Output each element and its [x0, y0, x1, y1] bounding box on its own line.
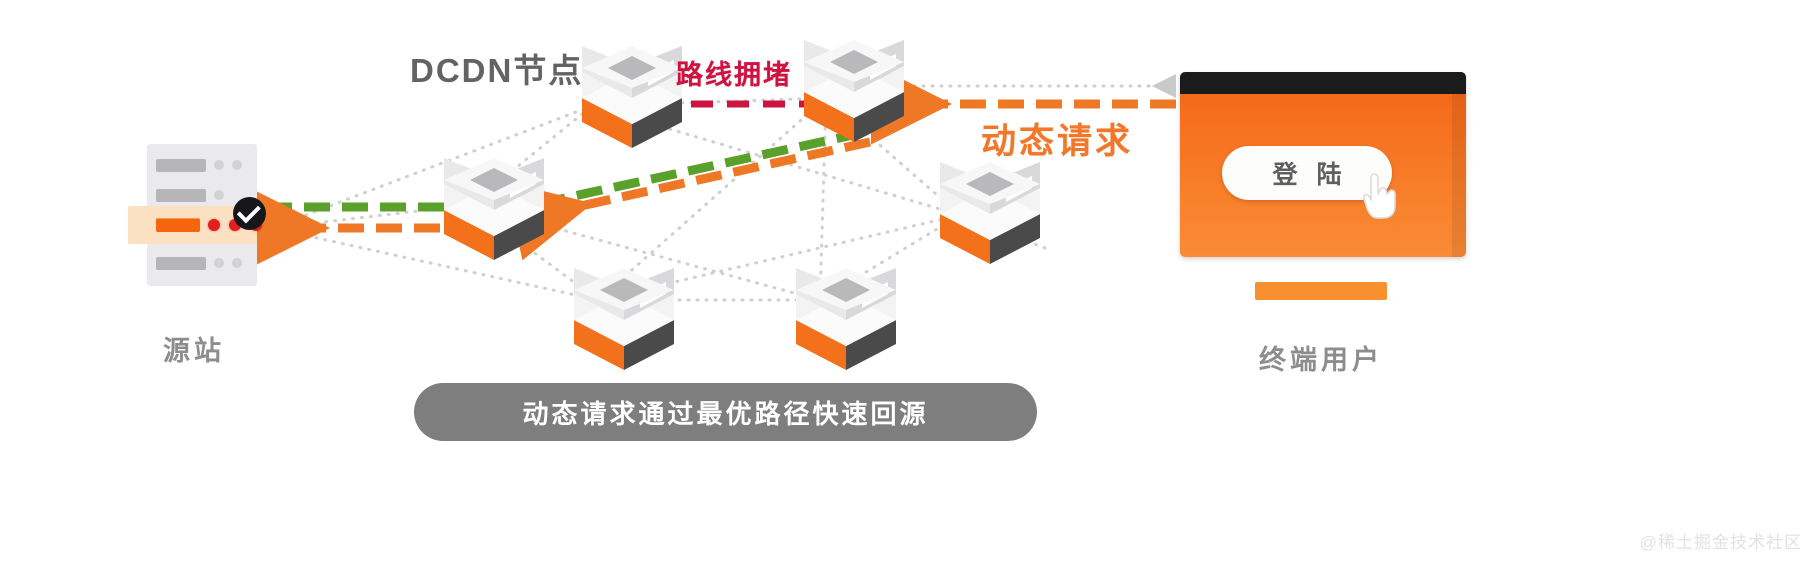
- node-mid-left: [444, 158, 544, 260]
- node-layer: [0, 0, 1816, 565]
- check-icon: [233, 197, 266, 230]
- label-origin: 源站: [163, 329, 225, 368]
- node-bottom-right: [796, 268, 896, 370]
- server-row-indicator: [214, 258, 224, 268]
- diagram-canvas: 登 陆 DCDN节点 路线拥堵 动态请求 源站 终端用户 动态请求通过最优路径快…: [0, 0, 1816, 565]
- node-top-right: [804, 40, 904, 142]
- connection-layer: [0, 0, 1816, 565]
- label-route-congestion: 路线拥堵: [676, 53, 792, 92]
- caption-banner: 动态请求通过最优路径快速回源: [414, 383, 1037, 441]
- server-row-bar: [156, 189, 206, 202]
- server-row-indicator: [214, 190, 224, 200]
- caption-text: 动态请求通过最优路径快速回源: [522, 394, 928, 431]
- end-user-browser: 登 陆: [1180, 72, 1466, 257]
- server-row-1: [156, 156, 248, 174]
- label-dcdn-nodes: DCDN节点: [410, 44, 583, 92]
- device-stand: [1255, 282, 1387, 300]
- server-active-indicator: [208, 219, 220, 231]
- server-row-bar: [156, 257, 206, 270]
- server-row-indicator: [214, 160, 224, 170]
- label-end-user: 终端用户: [1259, 338, 1383, 377]
- node-top-left: [582, 46, 682, 148]
- server-row-2: [156, 186, 248, 204]
- browser-titlebar: [1180, 72, 1466, 94]
- pointer-hand-icon: [1362, 172, 1404, 220]
- server-row-bar: [156, 159, 206, 172]
- login-button-label: 登 陆: [1267, 155, 1348, 191]
- node-mesh-links: [272, 98, 1050, 300]
- path-return-orange: [276, 142, 870, 228]
- label-dynamic-request: 动态请求: [981, 113, 1133, 164]
- server-row-indicator: [232, 160, 242, 170]
- path-optimal-green: [266, 133, 862, 207]
- server-active-bar: [156, 218, 200, 232]
- server-row-4: [156, 254, 248, 272]
- browser-viewport: 登 陆: [1180, 94, 1466, 257]
- node-mid-right: [940, 162, 1040, 264]
- watermark: @稀土掘金技术社区: [1640, 528, 1802, 553]
- node-bottom-left: [574, 268, 674, 370]
- server-row-indicator: [232, 258, 242, 268]
- check-mark: [237, 199, 261, 223]
